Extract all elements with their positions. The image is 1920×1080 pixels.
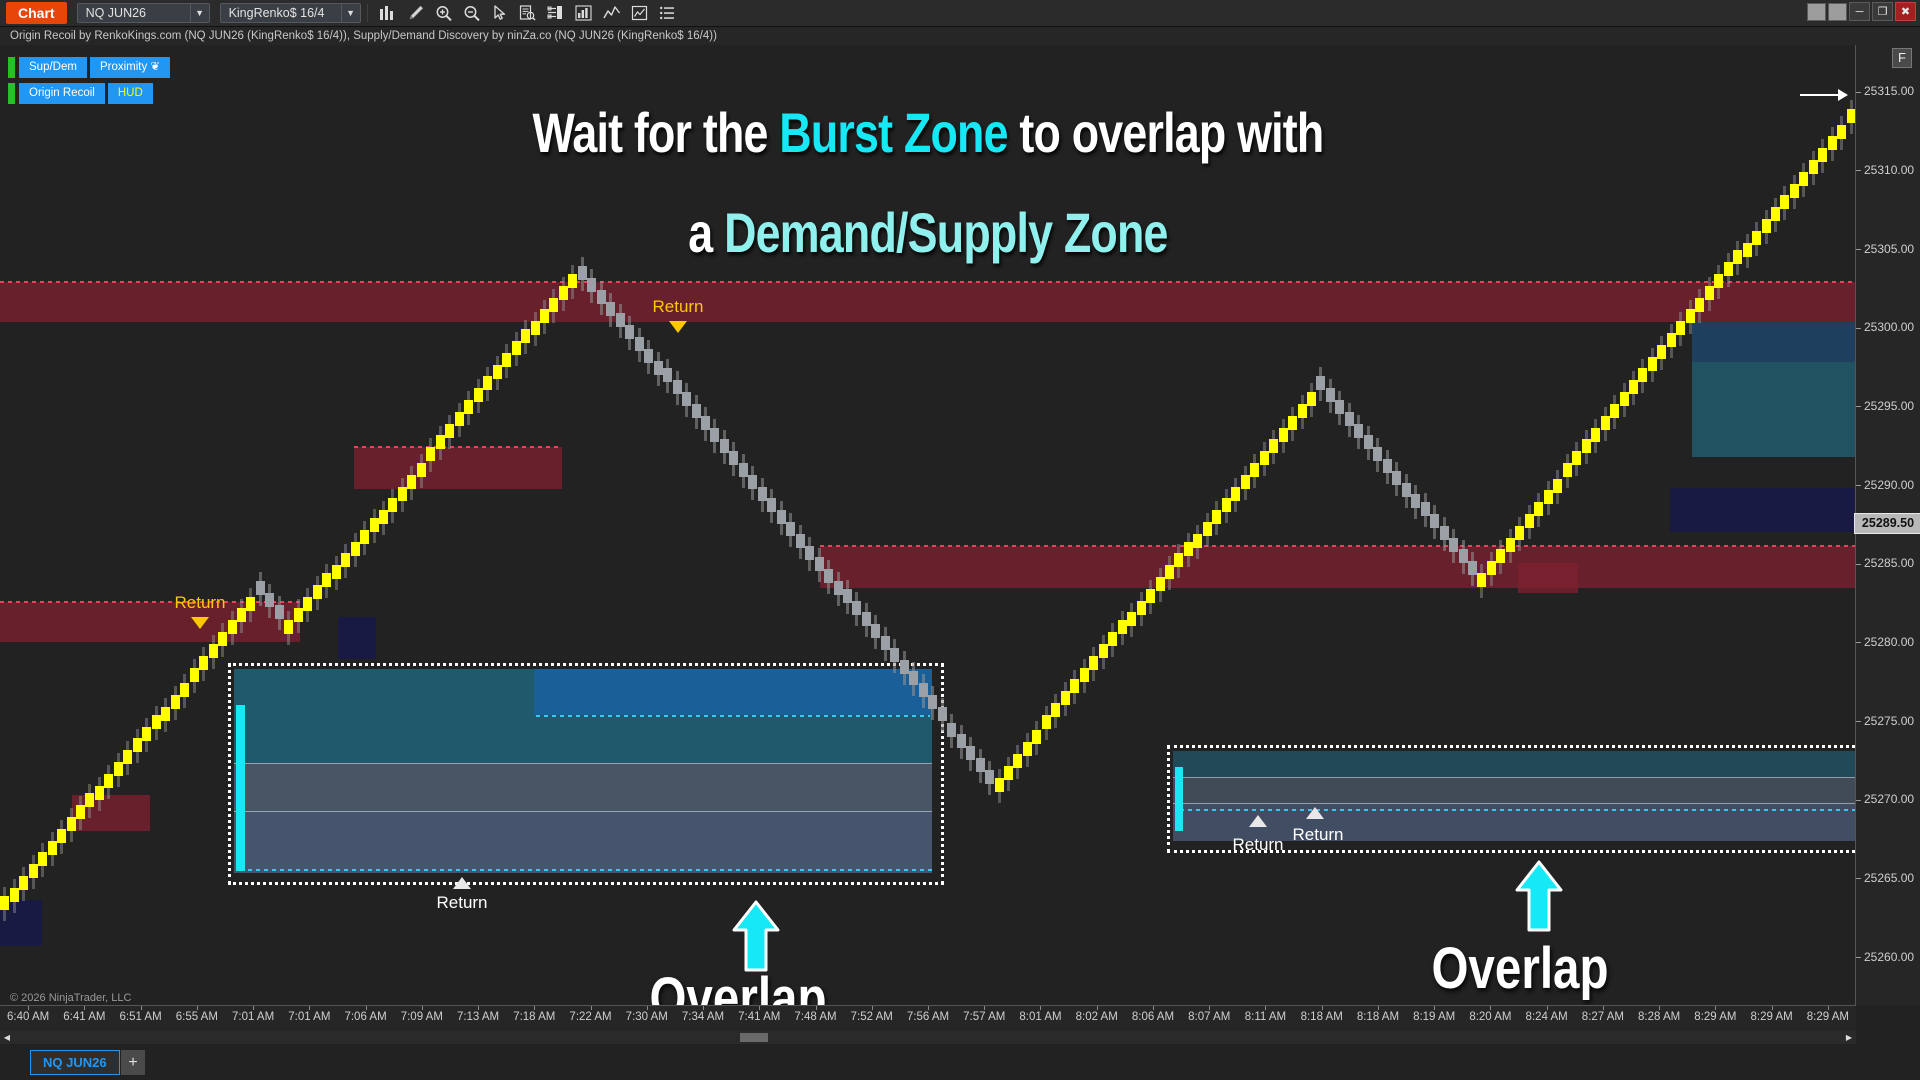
indicators-icon[interactable] (571, 2, 597, 24)
renko-brick-down (976, 758, 985, 772)
renko-brick-up (294, 608, 303, 622)
renko-brick-down (578, 266, 587, 280)
renko-brick-up (1809, 160, 1818, 174)
time-tick-label: 8:29 AM (1694, 1011, 1736, 1023)
zoom-out-icon[interactable] (459, 2, 485, 24)
renko-brick-up (502, 353, 511, 367)
burst-zone-2-middle (1173, 777, 1856, 803)
renko-brick-up (1534, 502, 1543, 516)
renko-brick-up (417, 463, 426, 477)
time-tick-label: 7:34 AM (682, 1011, 724, 1023)
renko-brick-up (1269, 439, 1278, 453)
renko-brick-up (540, 309, 549, 323)
burst-zone-2-upper (1173, 751, 1856, 777)
renko-brick-down (966, 746, 975, 760)
time-tick-mark (1265, 1006, 1266, 1010)
renko-brick-up (246, 597, 255, 611)
price-tick: 25265.00 (1856, 871, 1920, 885)
sup-dem-button[interactable]: Sup/Dem (19, 57, 87, 78)
renko-brick-down (1440, 526, 1449, 540)
time-tick-mark (928, 1006, 929, 1010)
time-tick-label: 8:27 AM (1582, 1011, 1624, 1023)
renko-brick-up (1799, 172, 1808, 186)
renko-brick-up (209, 644, 218, 658)
renko-brick-up (1496, 549, 1505, 563)
burst-zone-2-origin-bar (1175, 767, 1183, 831)
renko-brick-up (436, 435, 445, 449)
renko-brick-up (322, 573, 331, 587)
renko-brick-up (284, 620, 293, 634)
renko-brick-up (360, 530, 369, 544)
renko-brick-down (900, 660, 909, 674)
proximity-band-upper (1692, 322, 1856, 362)
price-tick: 25270.00 (1856, 792, 1920, 806)
renko-brick-down (1345, 412, 1354, 426)
headline-highlight-burst-zone: Burst Zone (779, 101, 1007, 164)
renko-brick-down (919, 683, 928, 697)
indicator-row: Origin Recoil HUD (8, 83, 173, 104)
time-tick-label: 7:09 AM (401, 1011, 443, 1023)
price-tick: 25295.00 (1856, 399, 1920, 413)
renko-brick-up (1250, 463, 1259, 477)
renko-brick-up (1298, 404, 1307, 418)
supply-zone-right-band (820, 546, 1856, 588)
renko-brick-up (426, 447, 435, 461)
renko-brick-up (332, 565, 341, 579)
return-marker-up-icon (1306, 807, 1324, 819)
renko-brick-up (1780, 195, 1789, 209)
time-tick-label: 6:55 AM (176, 1011, 218, 1023)
window-placeholder-2 (1828, 3, 1847, 21)
renko-brick-down (729, 451, 738, 465)
renko-brick-up (1515, 526, 1524, 540)
scrollbar-thumb[interactable] (740, 1033, 768, 1042)
renko-brick-up (1260, 451, 1269, 465)
time-tick-label: 8:18 AM (1357, 1011, 1399, 1023)
time-tick-mark (1378, 1006, 1379, 1010)
renko-brick-up (1193, 534, 1202, 548)
burst-zone-1-origin-bar (236, 705, 245, 871)
indicator-status-bar (8, 57, 15, 78)
overlap-up-arrow-icon (1513, 860, 1565, 937)
price-tick: 25305.00 (1856, 242, 1920, 256)
return-label: Return (1232, 835, 1283, 855)
time-tick-label: 7:01 AM (232, 1011, 274, 1023)
renko-brick-up (123, 750, 132, 764)
renko-brick-up (388, 498, 397, 512)
price-tick: 25315.00 (1856, 84, 1920, 98)
time-tick-mark (1209, 1006, 1210, 1010)
add-tab-button[interactable]: + (121, 1050, 145, 1075)
renko-brick-up (303, 597, 312, 611)
indicator-row: Sup/Dem Proximity ❦ (8, 57, 173, 78)
time-tick-label: 6:41 AM (63, 1011, 105, 1023)
renko-brick-up (1752, 231, 1761, 245)
time-tick-mark (28, 1006, 29, 1010)
interval-selector[interactable]: KingRenko$ 16/4 ▼ (220, 3, 361, 23)
renko-brick-up (1108, 632, 1117, 646)
renko-brick-down (1402, 483, 1411, 497)
renko-brick-down (1459, 549, 1468, 563)
burst-zone-2-dash (1180, 809, 1856, 811)
demand-zone-upper-right (1670, 488, 1856, 532)
renko-brick-up (142, 727, 151, 741)
data-series-icon[interactable] (375, 2, 401, 24)
renko-brick-up (483, 376, 492, 390)
price-tick: 25260.00 (1856, 950, 1920, 964)
headline-text-pre: Wait for the (533, 101, 780, 164)
time-tick-mark (1153, 1006, 1154, 1010)
time-tick-mark (253, 1006, 254, 1010)
renko-brick-up (1506, 538, 1515, 552)
renko-brick-up (114, 762, 123, 776)
chart-horizontal-scrollbar[interactable]: ◀ ▶ (0, 1031, 1856, 1044)
hud-button[interactable]: HUD (108, 83, 153, 104)
return-marker-down-icon (669, 321, 687, 333)
renko-brick-up (171, 695, 180, 709)
renko-brick-up (1638, 368, 1647, 382)
renko-brick-down (1421, 502, 1430, 516)
demand-zone-mid (338, 617, 376, 659)
renko-brick-up (370, 518, 379, 532)
renko-brick-up (67, 817, 76, 831)
renko-brick-down (739, 463, 748, 477)
indicator-status-bar (8, 83, 15, 104)
renko-brick-up (10, 888, 19, 902)
renko-brick-up (531, 321, 540, 335)
chart-menu-button[interactable]: Chart (6, 2, 67, 24)
time-tick-mark (1603, 1006, 1604, 1010)
return-marker-down-icon (191, 617, 209, 629)
time-tick-mark (1659, 1006, 1660, 1010)
renko-brick-up (1279, 428, 1288, 442)
renko-brick-up (1610, 404, 1619, 418)
renko-brick-down (682, 392, 691, 406)
time-tick-label: 7:48 AM (794, 1011, 836, 1023)
drawing-tools-icon[interactable] (403, 2, 429, 24)
renko-brick-up (445, 424, 454, 438)
time-tick-label: 8:28 AM (1638, 1011, 1680, 1023)
renko-brick-down (1364, 435, 1373, 449)
window-placeholder-1 (1807, 3, 1826, 21)
return-marker-up-icon (1249, 815, 1267, 827)
renko-brick-up (95, 786, 104, 800)
renko-brick-up (1023, 742, 1032, 756)
time-tick-label: 6:40 AM (7, 1011, 49, 1023)
time-tick-label: 6:51 AM (119, 1011, 161, 1023)
renko-brick-down (843, 589, 852, 603)
renko-brick-up (1733, 250, 1742, 264)
return-label: Return (1292, 825, 1343, 845)
time-tick-mark (534, 1006, 535, 1010)
time-tick-mark (422, 1006, 423, 1010)
time-tick-mark (591, 1006, 592, 1010)
renko-brick-up (1762, 219, 1771, 233)
workspace-tab-nq-jun26[interactable]: NQ JUN26 (30, 1050, 120, 1075)
instrument-selector[interactable]: NQ JUN26 ▼ (77, 3, 210, 23)
time-tick-label: 7:57 AM (963, 1011, 1005, 1023)
renko-brick-up (1572, 451, 1581, 465)
renko-brick-up (237, 608, 246, 622)
price-tick: 25280.00 (1856, 635, 1920, 649)
cursor-pointer-icon[interactable] (487, 2, 513, 24)
renko-brick-down (881, 636, 890, 650)
renko-brick-down (947, 723, 956, 737)
renko-brick-down (616, 313, 625, 327)
time-tick-label: 7:30 AM (626, 1011, 668, 1023)
renko-brick-up (1771, 207, 1780, 221)
headline-text-post: to overlap with (1008, 101, 1324, 164)
renko-brick-up (1089, 656, 1098, 670)
renko-brick-up (1544, 490, 1553, 504)
renko-brick-up (1307, 392, 1316, 406)
renko-brick-up (1165, 565, 1174, 579)
price-tick: 25290.00 (1856, 478, 1920, 492)
renko-brick-up (1004, 766, 1013, 780)
burst-zone-1-middle (234, 763, 932, 811)
burst-zone-1-lower (234, 811, 932, 873)
chevron-down-icon[interactable]: ▼ (341, 4, 360, 22)
time-tick-mark (1322, 1006, 1323, 1010)
renko-brick-down (985, 770, 994, 784)
workspace-tab-bar: NQ JUN26 + (0, 1044, 1920, 1080)
renko-brick-down (625, 325, 634, 339)
price-tick: 25275.00 (1856, 714, 1920, 728)
renko-brick-down (777, 510, 786, 524)
renko-brick-up (521, 329, 530, 343)
renko-brick-up (398, 487, 407, 501)
renko-brick-down (635, 337, 644, 351)
chart-template-icon[interactable] (627, 2, 653, 24)
time-tick-mark (1040, 1006, 1041, 1010)
renko-brick-up (38, 852, 47, 866)
renko-brick-up (1241, 475, 1250, 489)
renko-brick-down (1468, 561, 1477, 575)
time-tick-mark (1772, 1006, 1773, 1010)
renko-brick-down (1335, 400, 1344, 414)
time-tick-label: 7:52 AM (851, 1011, 893, 1023)
strategies-icon[interactable] (599, 2, 625, 24)
time-tick-label: 8:24 AM (1526, 1011, 1568, 1023)
renko-brick-down (834, 581, 843, 595)
renko-brick-up (1657, 345, 1666, 359)
renko-brick-down (871, 624, 880, 638)
price-tick: 25310.00 (1856, 163, 1920, 177)
renko-brick-up (1705, 286, 1714, 300)
renko-brick-up (1563, 463, 1572, 477)
renko-brick-down (909, 671, 918, 685)
renko-brick-up (180, 683, 189, 697)
panel-layout-icon[interactable] (543, 2, 569, 24)
time-tick-label: 8:19 AM (1413, 1011, 1455, 1023)
renko-brick-down (1373, 447, 1382, 461)
renko-brick-up (1222, 498, 1231, 512)
renko-brick-down (701, 416, 710, 430)
renko-brick-up (152, 715, 161, 729)
renko-brick-down (758, 487, 767, 501)
time-tick-label: 7:18 AM (513, 1011, 555, 1023)
time-tick-label: 7:06 AM (344, 1011, 386, 1023)
time-tick-mark (647, 1006, 648, 1010)
time-tick-label: 7:56 AM (907, 1011, 949, 1023)
renko-brick-up (1487, 561, 1496, 575)
renko-brick-up (1070, 679, 1079, 693)
renko-brick-up (76, 805, 85, 819)
time-tick-label: 7:41 AM (738, 1011, 780, 1023)
burst-zone-1-inner-blue (534, 669, 932, 715)
renko-brick-down (663, 368, 672, 382)
renko-brick-up (1695, 298, 1704, 312)
renko-brick-down (767, 498, 776, 512)
proximity-button[interactable]: Proximity ❦ (90, 57, 170, 78)
time-tick-label: 7:01 AM (288, 1011, 330, 1023)
renko-brick-down (265, 593, 274, 607)
time-axis[interactable]: 6:40 AM6:41 AM6:51 AM6:55 AM7:01 AM7:01 … (0, 1005, 1856, 1032)
overlap-callout-label: Overlap (649, 965, 826, 1005)
renko-brick-up (1620, 392, 1629, 406)
time-tick-mark (1547, 1006, 1548, 1010)
headline-annotation-line-2: a Demand/Supply Zone (186, 200, 1671, 265)
renko-brick-up (161, 707, 170, 721)
minimize-icon[interactable]: ─ (1849, 2, 1870, 21)
renko-brick-up (190, 668, 199, 682)
time-tick-mark (1828, 1006, 1829, 1010)
time-tick-mark (1434, 1006, 1435, 1010)
return-label: Return (174, 593, 225, 613)
renko-brick-up (0, 896, 9, 910)
renko-brick-down (256, 581, 265, 595)
close-icon[interactable]: ✖ (1895, 2, 1916, 21)
renko-brick-up (1099, 644, 1108, 658)
headline-text-pre-2: a (688, 201, 724, 264)
renko-brick-up (313, 585, 322, 599)
origin-recoil-button[interactable]: Origin Recoil (19, 83, 105, 104)
renko-brick-down (748, 475, 757, 489)
renko-brick-up (1051, 703, 1060, 717)
time-tick-label: 8:29 AM (1807, 1011, 1849, 1023)
headline-highlight-demand-supply-zone: Demand/Supply Zone (724, 201, 1168, 264)
renko-brick-down (1316, 376, 1325, 390)
renko-brick-up (1743, 243, 1752, 257)
window-controls: ─ ❐ ✖ (1807, 2, 1916, 21)
indicator-hud-panel: Sup/Dem Proximity ❦ Origin Recoil HUD (8, 57, 173, 109)
renko-brick-up (1042, 715, 1051, 729)
renko-brick-down (938, 707, 947, 721)
price-axis[interactable]: F 25315.0025310.0025305.0025300.0025295.… (1855, 45, 1920, 1005)
renko-brick-up (341, 553, 350, 567)
renko-brick-up (1601, 416, 1610, 430)
renko-brick-down (824, 569, 833, 583)
renko-brick-down (644, 349, 653, 363)
renko-brick-up (1582, 439, 1591, 453)
return-label: Return (436, 893, 487, 913)
renko-brick-up (19, 876, 28, 890)
time-tick-mark (366, 1006, 367, 1010)
instrument-value: NQ JUN26 (78, 6, 190, 20)
time-tick-mark (309, 1006, 310, 1010)
time-tick-mark (1490, 1006, 1491, 1010)
renko-brick-up (379, 510, 388, 524)
time-tick-mark (84, 1006, 85, 1010)
renko-brick-down (587, 278, 596, 292)
renko-brick-down (862, 612, 871, 626)
renko-brick-up (995, 778, 1004, 792)
time-tick-mark (1715, 1006, 1716, 1010)
renko-brick-down (1354, 424, 1363, 438)
renko-brick-down (1411, 494, 1420, 508)
scroll-right-icon[interactable]: ▶ (1844, 1032, 1854, 1043)
renko-brick-up (1032, 730, 1041, 744)
renko-brick-down (805, 546, 814, 560)
time-tick-mark (872, 1006, 873, 1010)
time-tick-label: 8:29 AM (1751, 1011, 1793, 1023)
time-tick-mark (984, 1006, 985, 1010)
renko-brick-down (928, 695, 937, 709)
price-format-badge[interactable]: F (1892, 48, 1912, 68)
renko-brick-up (1553, 479, 1562, 493)
chart-indicator-title: Origin Recoil by RenkoKings.com (NQ JUN2… (0, 27, 1920, 45)
renko-brick-up (1231, 487, 1240, 501)
renko-brick-down (692, 404, 701, 418)
time-tick-mark (1097, 1006, 1098, 1010)
renko-brick-up (1174, 553, 1183, 567)
renko-brick-up (1818, 148, 1827, 162)
chevron-down-icon[interactable]: ▼ (190, 4, 209, 22)
renko-brick-up (1724, 262, 1733, 276)
renko-brick-up (199, 656, 208, 670)
renko-brick-up (1648, 357, 1657, 371)
time-tick-label: 8:07 AM (1188, 1011, 1230, 1023)
renko-brick-up (1477, 573, 1486, 587)
renko-brick-up (1127, 612, 1136, 626)
renko-brick-down (1383, 459, 1392, 473)
overlap-callout-label: Overlap (1431, 935, 1608, 1002)
renko-brick-up (1212, 510, 1221, 524)
renko-brick-up (455, 412, 464, 426)
renko-brick-up (85, 793, 94, 807)
supply-zone-top (0, 282, 1856, 322)
proximity-band-lower (1692, 362, 1856, 457)
burst-zone-1-line-b (234, 811, 932, 812)
renko-brick-up (29, 864, 38, 878)
restore-icon[interactable]: ❐ (1872, 2, 1893, 21)
renko-brick-up (1137, 601, 1146, 615)
scroll-left-icon[interactable]: ◀ (2, 1032, 12, 1043)
chart-canvas[interactable]: Return Return Return Return Return Wait … (0, 45, 1856, 1005)
renko-brick-up (1837, 125, 1846, 139)
renko-brick-up (1184, 542, 1193, 556)
renko-brick-up (57, 829, 66, 843)
renko-brick-up (1146, 589, 1155, 603)
renko-brick-down (1449, 538, 1458, 552)
burst-zone-1-dash-lower (248, 869, 932, 871)
properties-icon[interactable] (515, 2, 541, 24)
supply-zone-mid-left (354, 447, 562, 489)
renko-brick-up (351, 542, 360, 556)
renko-brick-up (568, 274, 577, 288)
time-tick-mark (141, 1006, 142, 1010)
renko-brick-up (1203, 522, 1212, 536)
renko-brick-up (1080, 668, 1089, 682)
supply-zone-small-b (1518, 563, 1578, 593)
renko-brick-down (597, 290, 606, 304)
renko-brick-up (1013, 754, 1022, 768)
order-list-icon[interactable] (655, 2, 681, 24)
zone-dashed-boundary (820, 545, 1856, 547)
zoom-in-icon[interactable] (431, 2, 457, 24)
renko-brick-up (1156, 577, 1165, 591)
interval-value: KingRenko$ 16/4 (221, 6, 341, 20)
